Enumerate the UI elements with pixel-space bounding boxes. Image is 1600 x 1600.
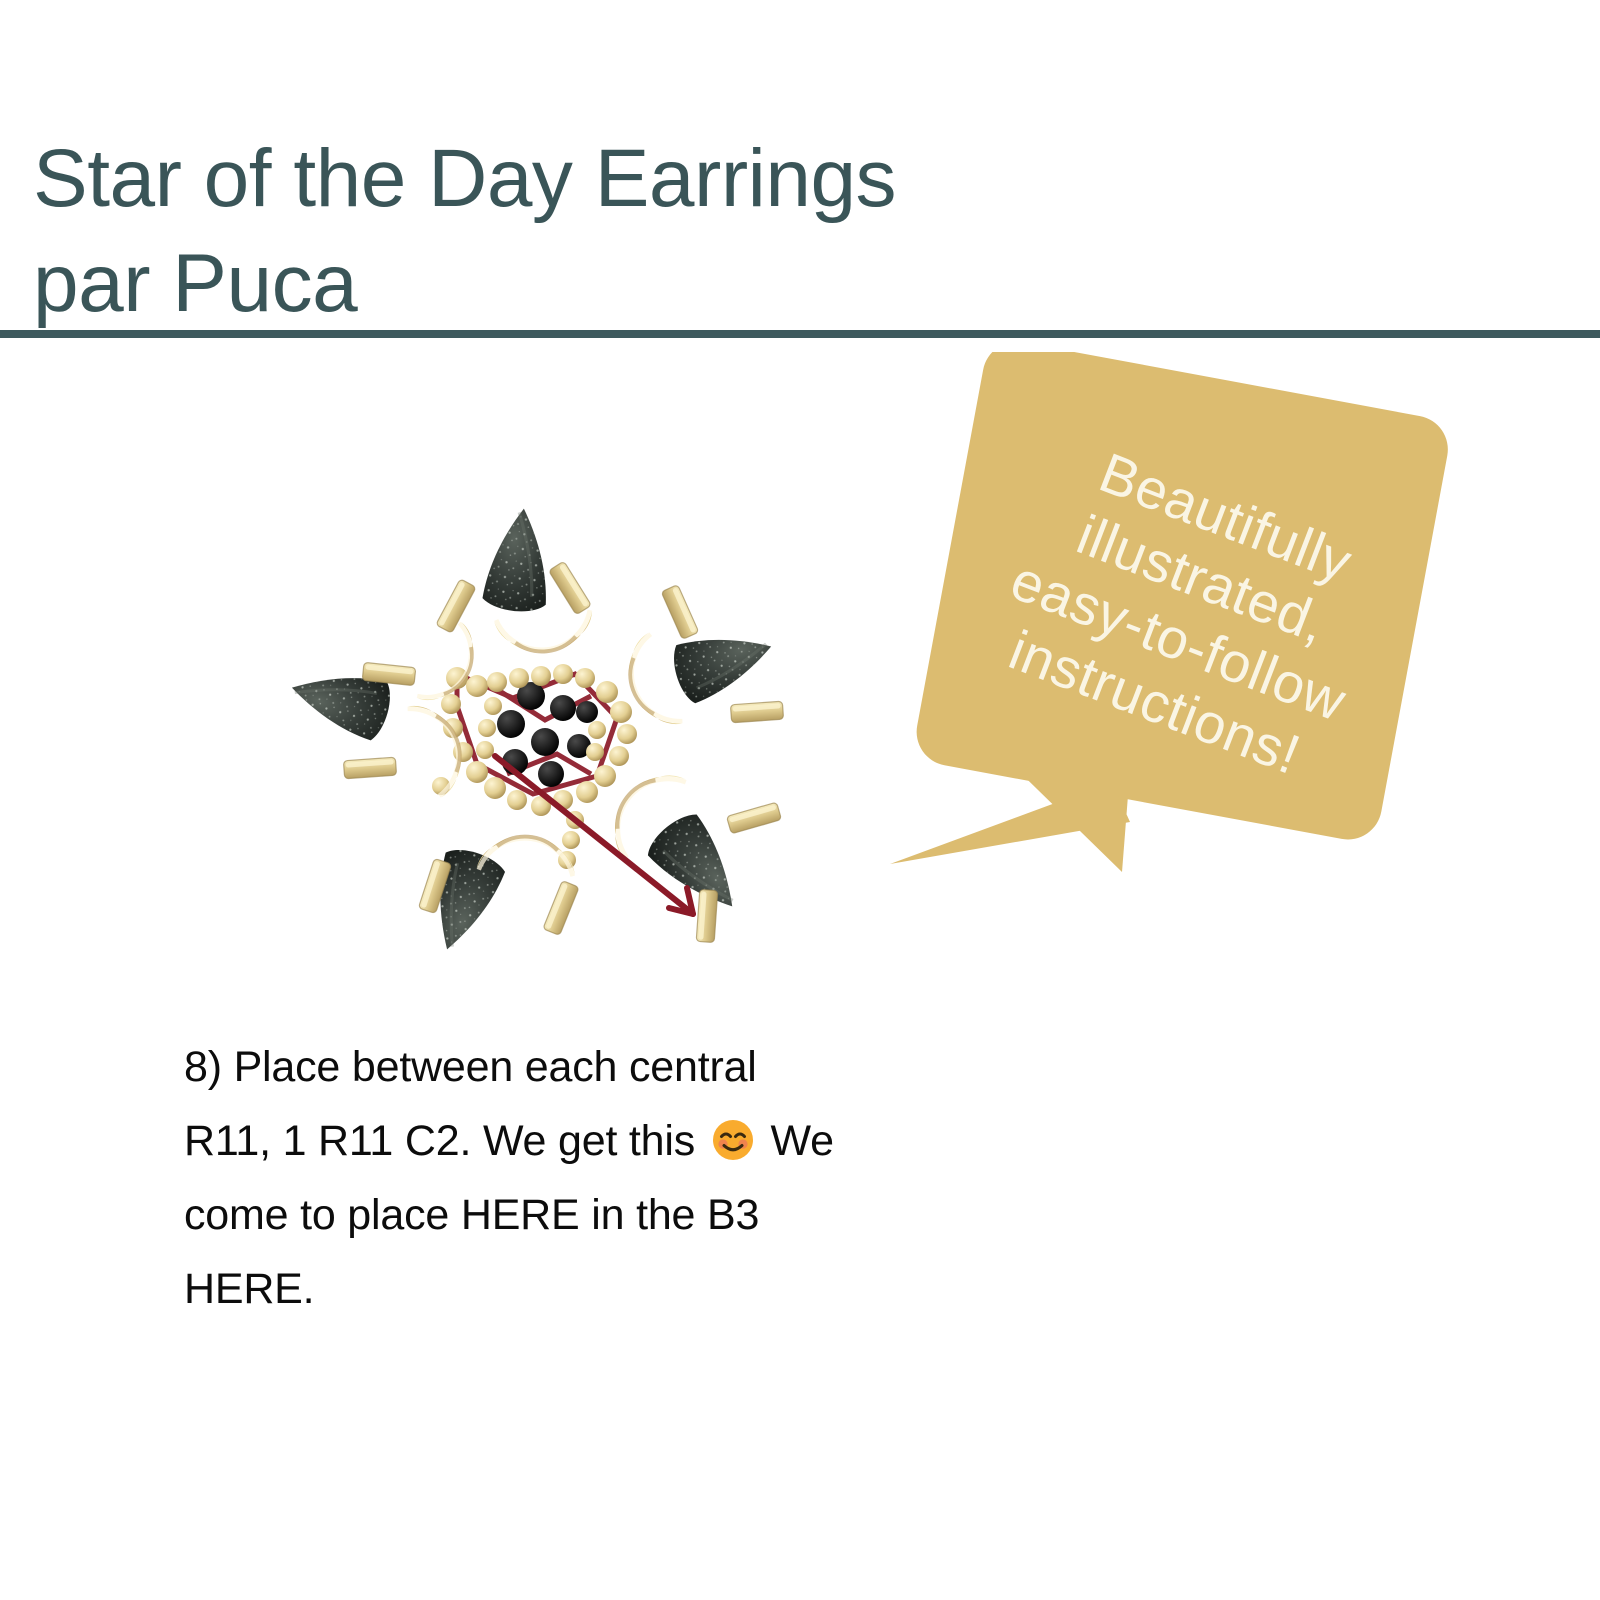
smiling-face-with-smiling-eyes-icon [711,1118,755,1162]
header-divider [0,330,1600,338]
callout-speech-bubble [872,352,1472,892]
page-title: Star of the Day Earrings par Puca [33,127,1373,337]
instruction-paragraph: 8) Place between each central R11, 1 R11… [184,1031,844,1327]
instruction-text-before-emoji: 8) Place between each central R11, 1 R11… [184,1043,757,1165]
beadwork-photo [245,456,805,966]
